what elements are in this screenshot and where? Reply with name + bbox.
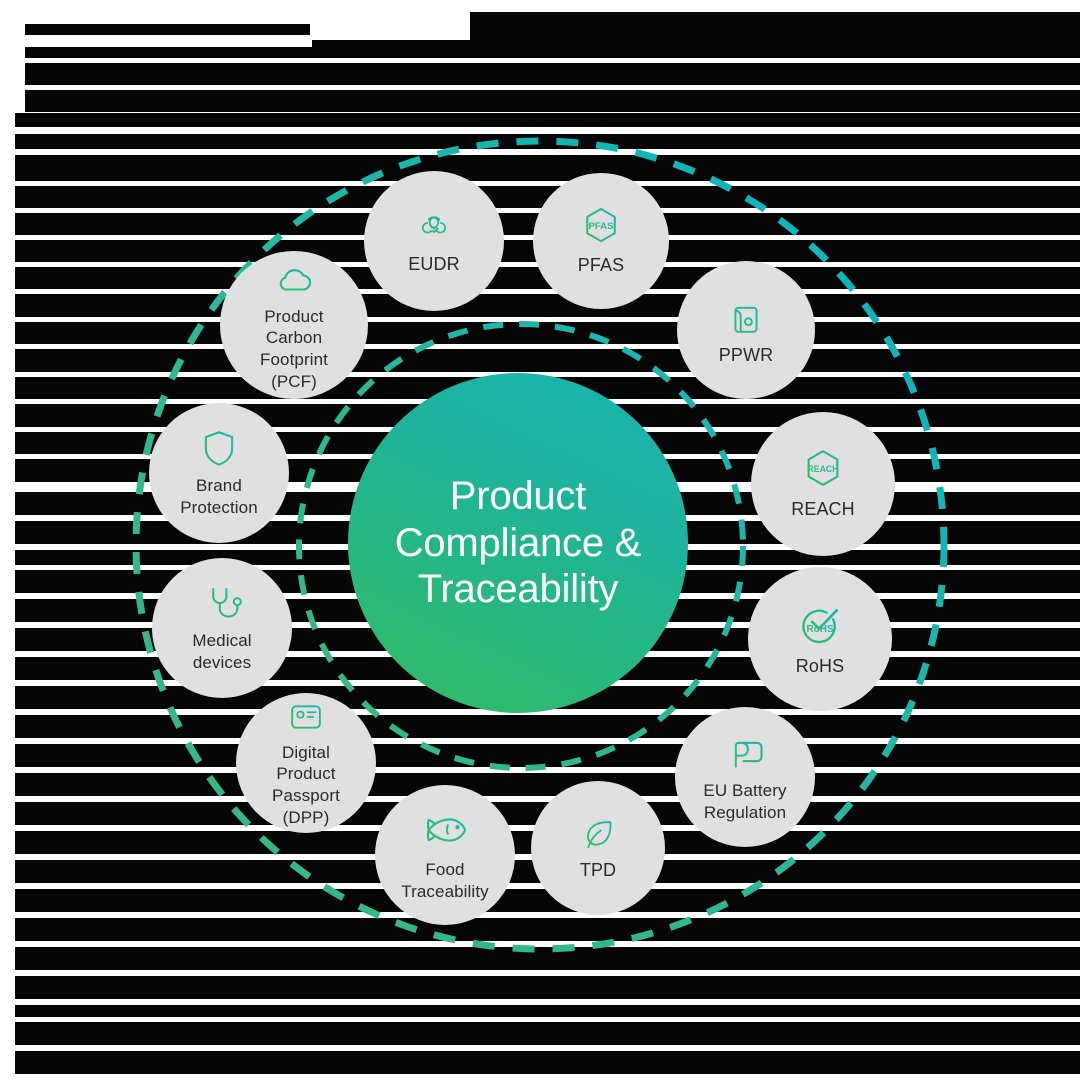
svg-text:PFAS: PFAS: [588, 222, 614, 233]
node-label-eudr: EUDR: [408, 253, 459, 276]
redaction-bar: [15, 1022, 1080, 1045]
redaction-bar: [15, 322, 1080, 344]
redaction-bar: [15, 918, 1080, 941]
compliance-wheel-diagram: EUDRPFASPFASPPWRREACHREACHRoHSRoHSEU Bat…: [0, 0, 1080, 1080]
svg-text:RoHS: RoHS: [807, 624, 834, 635]
redaction-bar: [15, 976, 1080, 999]
node-label-eu-battery-regulation: EU Battery Regulation: [703, 780, 786, 824]
redaction-bar: [15, 1051, 1080, 1074]
reach-hexagon-icon: REACH: [800, 446, 846, 492]
node-label-ppwr: PPWR: [719, 344, 773, 367]
redaction-bar: [15, 715, 1080, 738]
node-label-product-carbon-footprint: Product Carbon Footprint (PCF): [260, 306, 328, 393]
redaction-bar: [25, 90, 1080, 112]
tree-icon: [413, 205, 455, 247]
cloud-icon: [273, 258, 315, 300]
redaction-bar: [15, 134, 1080, 149]
redaction-bar: [15, 744, 1080, 767]
node-label-reach: REACH: [791, 498, 855, 521]
rohs-check-icon: RoHS: [795, 599, 845, 649]
leaf-icon: [578, 813, 618, 853]
id-card-icon: [287, 698, 325, 736]
packaging-bag-icon: [723, 292, 769, 338]
node-label-pfas: PFAS: [578, 254, 624, 277]
node-food-traceability[interactable]: Food Traceability: [375, 785, 515, 925]
redaction-bar: [15, 773, 1080, 796]
node-digital-product-passport[interactable]: Digital Product Passport (DPP): [236, 693, 376, 833]
battery-leaf-icon: [723, 730, 767, 774]
node-eudr[interactable]: EUDR: [364, 171, 504, 311]
redaction-bar: [312, 40, 1080, 58]
redaction-bar: [25, 47, 315, 58]
node-label-tpd: TPD: [580, 859, 616, 882]
node-medical-devices[interactable]: Medical devices: [152, 558, 292, 698]
node-tpd[interactable]: TPD: [531, 781, 665, 915]
node-reach[interactable]: REACHREACH: [751, 412, 895, 556]
node-rohs[interactable]: RoHSRoHS: [748, 567, 892, 711]
node-brand-protection[interactable]: Brand Protection: [149, 403, 289, 543]
fish-icon: [422, 807, 468, 853]
shield-icon: [198, 427, 240, 469]
center-hub: Product Compliance & Traceability: [348, 373, 688, 713]
node-product-carbon-footprint[interactable]: Product Carbon Footprint (PCF): [220, 251, 368, 399]
node-label-rohs: RoHS: [796, 655, 844, 678]
stethoscope-icon: [201, 582, 243, 624]
node-eu-battery-regulation[interactable]: EU Battery Regulation: [675, 707, 815, 847]
node-label-brand-protection: Brand Protection: [180, 475, 258, 519]
node-pfas[interactable]: PFASPFAS: [533, 173, 669, 309]
redaction-bar: [25, 63, 1080, 85]
redaction-bar: [15, 155, 1080, 181]
redaction-bar: [15, 113, 1080, 127]
node-ppwr[interactable]: PPWR: [677, 261, 815, 399]
node-label-digital-product-passport: Digital Product Passport (DPP): [272, 742, 340, 829]
redaction-bar: [15, 294, 1080, 317]
redaction-bar: [15, 1005, 1080, 1017]
redaction-bar: [470, 12, 1080, 40]
svg-text:REACH: REACH: [807, 465, 838, 475]
redaction-bar: [25, 24, 310, 35]
redaction-bar: [15, 947, 1080, 970]
node-label-food-traceability: Food Traceability: [401, 859, 489, 903]
pfas-hexagon-icon: PFAS: [579, 204, 623, 248]
center-hub-title: Product Compliance & Traceability: [381, 473, 656, 613]
node-label-medical-devices: Medical devices: [192, 630, 251, 674]
redaction-bar: [15, 349, 1080, 372]
